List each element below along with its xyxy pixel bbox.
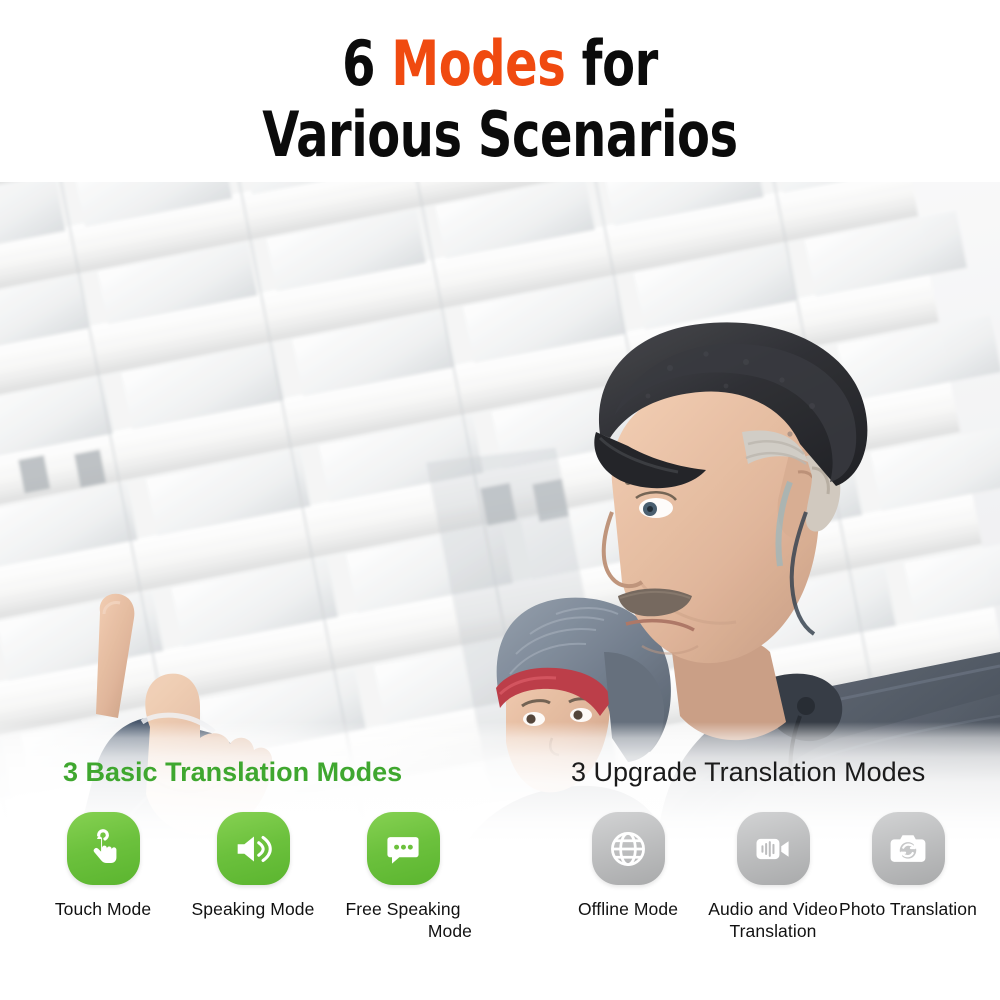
speaker-icon (217, 812, 290, 885)
mode-item-touch[interactable]: Touch Mode (28, 812, 178, 921)
mode-label-photo: Photo Translation (833, 899, 983, 921)
headline-line-1: 6 Modes for (70, 34, 930, 95)
mode-label-line1: Free Speaking (345, 899, 460, 919)
headline-count: 6 (342, 27, 391, 100)
touch-hand-icon (67, 812, 140, 885)
headline-accent-word: Modes (391, 27, 565, 100)
chat-bubble-icon (367, 812, 440, 885)
mode-item-speaking[interactable]: Speaking Mode (178, 812, 328, 921)
section-heading-upgrade: 3 Upgrade Translation Modes (571, 757, 925, 788)
page-title: 6 Modes for Various Scenarios (0, 34, 1000, 166)
globe-icon (592, 812, 665, 885)
mode-item-photo[interactable]: Photo Translation (833, 812, 983, 921)
product-feature-graphic: 6 Modes for Various Scenarios (0, 0, 1000, 1000)
video-audio-icon (737, 812, 810, 885)
mode-item-offline[interactable]: Offline Mode (553, 812, 703, 921)
mode-label-speaking: Speaking Mode (178, 899, 328, 921)
mode-label-offline: Offline Mode (553, 899, 703, 921)
mode-label-line1: Photo Translation (839, 899, 977, 919)
headline-line1-suffix: for (565, 27, 657, 100)
headline-line-2: Various Scenarios (70, 105, 930, 166)
mode-label-line2: Translation (698, 921, 848, 943)
mode-label-free-speaking: Free Speaking Mode (328, 899, 478, 943)
section-heading-basic: 3 Basic Translation Modes (63, 757, 402, 788)
mode-label-line2: Mode (328, 921, 478, 943)
mode-item-free-speaking[interactable]: Free Speaking Mode (328, 812, 478, 943)
mode-label-line1: Audio and Video (708, 899, 838, 919)
camera-sync-icon (872, 812, 945, 885)
mode-label-line1: Offline Mode (578, 899, 678, 919)
mode-label-line1: Touch Mode (55, 899, 151, 919)
mode-label-touch: Touch Mode (28, 899, 178, 921)
mode-item-audio-video[interactable]: Audio and Video Translation (698, 812, 848, 943)
mode-label-line1: Speaking Mode (192, 899, 315, 919)
mode-label-audio-video: Audio and Video Translation (698, 899, 848, 943)
